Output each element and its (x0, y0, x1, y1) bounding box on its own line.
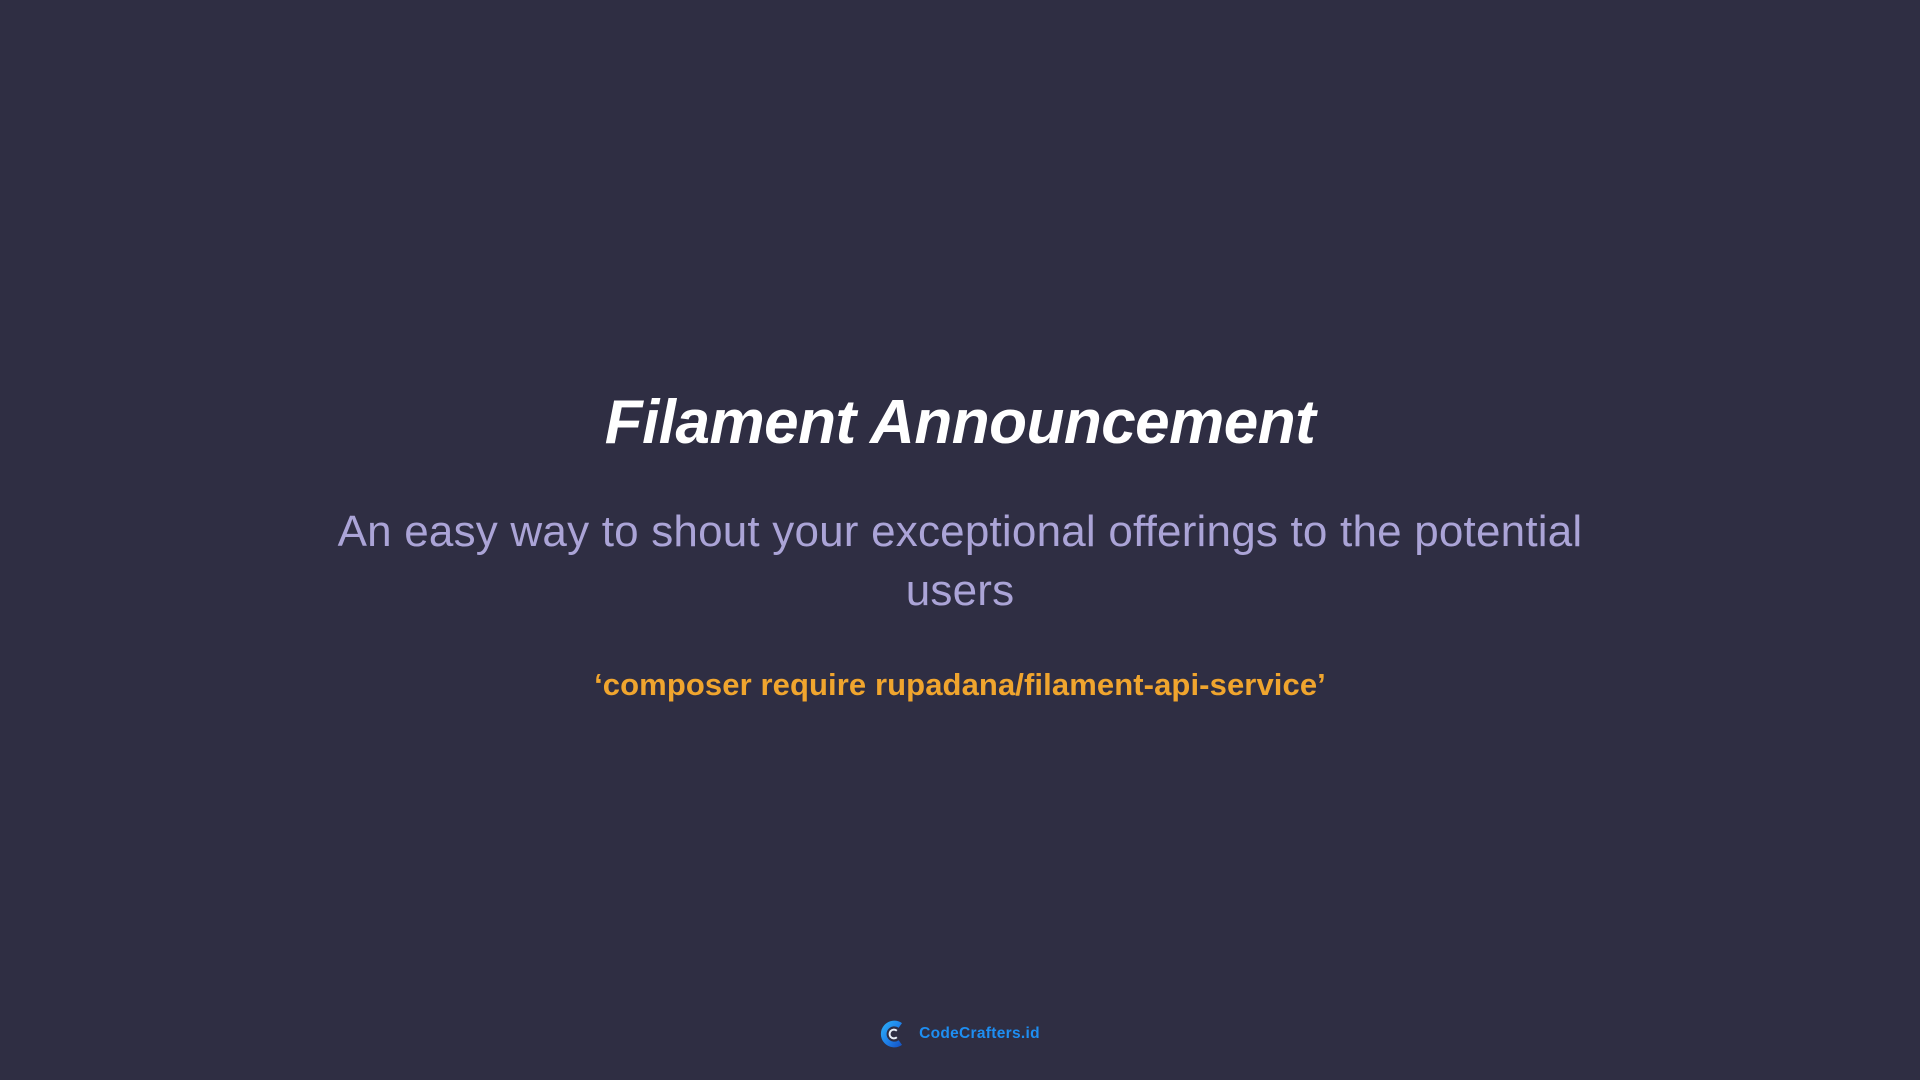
slide-subtitle: An easy way to shout your exceptional of… (300, 503, 1620, 620)
brand-name-label: CodeCrafters.id (919, 1026, 1040, 1042)
slide-content: Filament Announcement An easy way to sho… (0, 0, 1920, 1080)
announcement-slide: Filament Announcement An easy way to sho… (0, 0, 1920, 1080)
page-title: Filament Announcement (605, 390, 1316, 455)
codecrafters-c-logo-icon (880, 1020, 908, 1048)
install-command-text: ‘composer require rupadana/filament-api-… (594, 666, 1326, 703)
footer-brand: CodeCrafters.id (0, 1020, 1920, 1048)
